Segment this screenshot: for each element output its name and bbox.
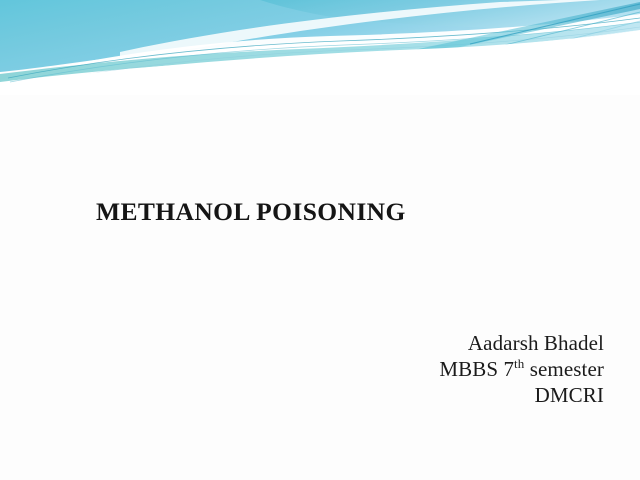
slide-title-placeholder: METHANOL POISONING (96, 196, 544, 228)
wave-banner-graphic (0, 0, 640, 95)
author-course: MBBS 7th semester (224, 356, 604, 382)
author-institution: DMCRI (224, 382, 604, 408)
author-name: Aadarsh Bhadel (224, 330, 604, 356)
wave-banner-decoration (0, 0, 640, 95)
slide-title: METHANOL POISONING (96, 196, 544, 228)
author-course-suffix: semester (524, 357, 604, 381)
slide-subtitle-placeholder: Aadarsh Bhadel MBBS 7th semester DMCRI (224, 330, 604, 408)
presentation-slide: METHANOL POISONING Aadarsh Bhadel MBBS 7… (0, 0, 640, 480)
author-course-prefix: MBBS 7 (439, 357, 514, 381)
author-course-ordinal: th (514, 356, 524, 371)
